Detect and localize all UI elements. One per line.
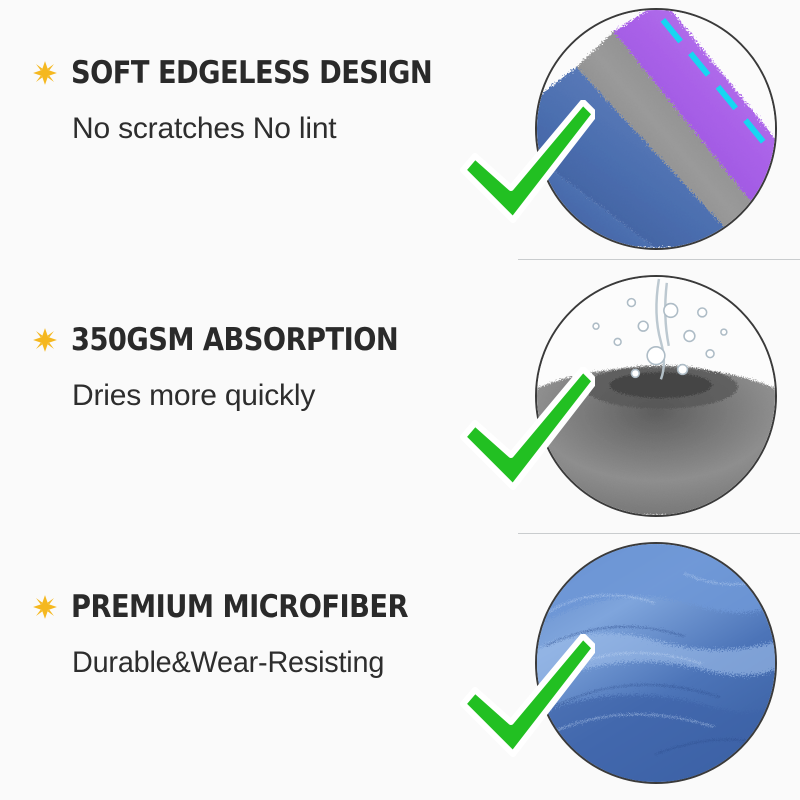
feature-text-column: PREMIUM MICROFIBER Durable&Wear-Resistin… (28, 590, 498, 679)
sunburst-star-icon (28, 56, 62, 90)
divider-1 (518, 259, 800, 260)
blue-plush-fiber-photo (535, 542, 777, 784)
feature-text-column: SOFT EDGELESS DESIGN No scratches No lin… (28, 56, 498, 145)
feature-block-premium-microfiber: PREMIUM MICROFIBER Durable&Wear-Resistin… (0, 534, 800, 800)
water-absorption-photo (535, 275, 777, 517)
headline-row: SOFT EDGELESS DESIGN (28, 56, 498, 90)
feature-headline: SOFT EDGELESS DESIGN (71, 57, 432, 90)
towel-edge-layers-photo (535, 8, 777, 250)
headline-row: 350GSM ABSORPTION (28, 323, 498, 357)
photo-circle-frame (535, 275, 777, 517)
feature-block-soft-edgeless-design: SOFT EDGELESS DESIGN No scratches No lin… (0, 0, 800, 266)
feature-subline: Dries more quickly (72, 379, 498, 412)
feature-subline: No scratches No lint (72, 112, 498, 145)
feature-text-column: 350GSM ABSORPTION Dries more quickly (28, 323, 498, 412)
headline-row: PREMIUM MICROFIBER (28, 590, 498, 624)
feature-headline: 350GSM ABSORPTION (71, 324, 398, 357)
feature-headline: PREMIUM MICROFIBER (71, 591, 408, 624)
sunburst-star-icon (28, 590, 62, 624)
photo-circle-frame (535, 8, 777, 250)
photo-circle-frame (535, 542, 777, 784)
feature-subline: Durable&Wear-Resisting (72, 646, 481, 679)
feature-block-350gsm-absorption: 350GSM ABSORPTION Dries more quickly (0, 267, 800, 533)
sunburst-star-icon (28, 323, 62, 357)
product-feature-infographic: SOFT EDGELESS DESIGN No scratches No lin… (0, 0, 800, 800)
